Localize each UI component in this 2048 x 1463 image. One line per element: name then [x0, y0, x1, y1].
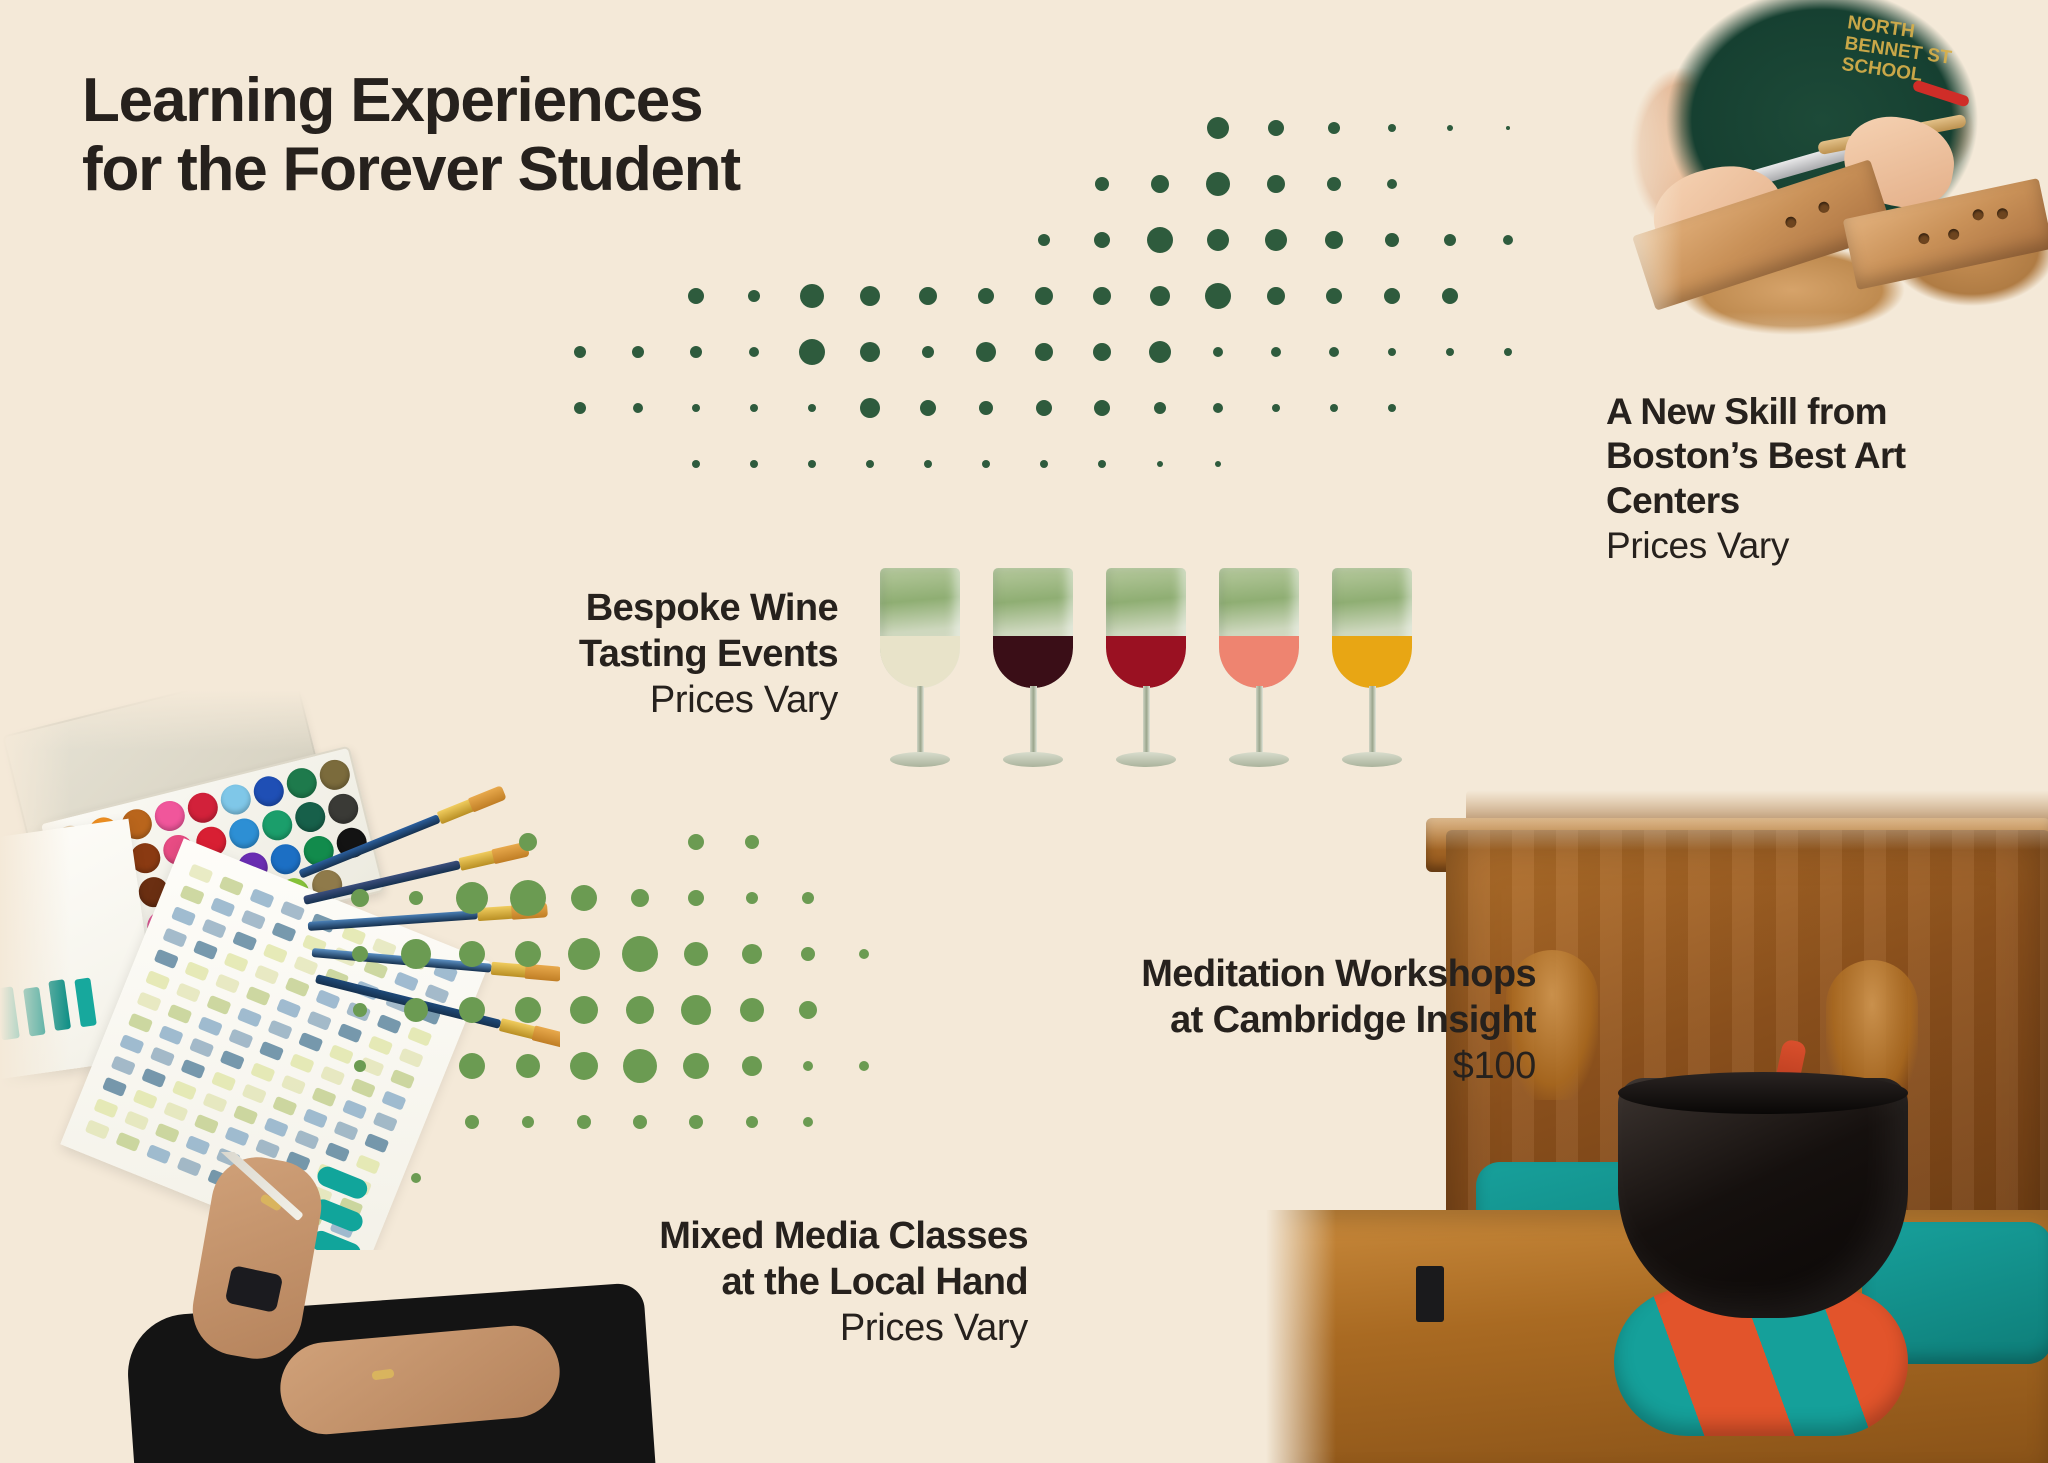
pattern-dot — [859, 1061, 869, 1071]
pattern-dot — [799, 339, 825, 365]
paint-swatch — [407, 1026, 432, 1046]
paint-swatch — [303, 1108, 328, 1128]
glass-foot — [1003, 752, 1063, 767]
glass-foot — [890, 752, 950, 767]
caption-title: Meditation Workshops at Cambridge Insigh… — [880, 952, 1536, 1043]
caption-title: Mixed Media Classes at the Local Hand — [420, 1214, 1028, 1305]
glass-stem — [1256, 686, 1263, 756]
paint-swatch — [171, 906, 196, 926]
small-black-object — [1416, 1266, 1444, 1322]
pattern-dot — [924, 460, 932, 468]
paint-swatch — [102, 1077, 127, 1097]
pattern-dot — [1271, 347, 1281, 357]
pattern-dot — [803, 1117, 813, 1127]
paint-swatch — [333, 1121, 358, 1141]
photo-edge-fade — [1266, 790, 2048, 850]
pattern-dot — [1388, 348, 1396, 356]
pattern-dot — [860, 342, 880, 362]
pattern-dot — [1098, 460, 1106, 468]
paint-swatch — [193, 940, 218, 960]
pattern-dot — [1388, 124, 1396, 132]
pattern-dot — [1447, 125, 1453, 131]
pattern-dot — [692, 404, 700, 412]
paint-swatch — [280, 901, 305, 921]
caption-meditation: Meditation Workshops at Cambridge Insigh… — [880, 952, 1536, 1090]
pattern-dot — [633, 403, 643, 413]
paint-swatch — [219, 876, 244, 896]
paint-swatch — [249, 888, 274, 908]
brush-bristles — [511, 902, 548, 919]
pattern-dot — [859, 949, 869, 959]
paint-pan — [259, 807, 295, 843]
glass-bowl — [880, 568, 960, 688]
paint-swatch — [351, 1078, 376, 1098]
pattern-dot — [1213, 347, 1223, 357]
pattern-dot — [570, 996, 598, 1024]
paint-swatch — [293, 956, 318, 976]
pattern-dot — [1095, 177, 1109, 191]
pattern-dot — [1154, 402, 1166, 414]
pattern-dot — [1446, 348, 1454, 356]
pattern-dot — [749, 347, 759, 357]
pattern-dot — [688, 890, 704, 906]
wine-glass-dark-red-wine — [985, 562, 1081, 782]
pattern-dot — [688, 288, 704, 304]
paint-swatch — [202, 1093, 227, 1113]
pattern-dot — [688, 834, 704, 850]
paint-swatch — [119, 1034, 144, 1054]
paint-swatch — [233, 1105, 258, 1125]
caption-wine: Bespoke Wine Tasting Events Prices Vary — [420, 586, 838, 724]
paint-swatch — [115, 1132, 140, 1152]
caption-title: A New Skill from Boston’s Best Art Cente… — [1606, 390, 2006, 523]
paint-swatch — [111, 1055, 136, 1075]
paint-swatch — [368, 1035, 393, 1055]
paint-swatch — [242, 1084, 267, 1104]
glass-stem — [1143, 686, 1150, 756]
pattern-dot — [1325, 231, 1343, 249]
paint-swatch — [373, 1112, 398, 1132]
paint-swatch — [337, 1023, 362, 1043]
pattern-dot — [570, 1052, 598, 1080]
wine-glass-white-wine — [872, 562, 968, 782]
pattern-dot — [979, 401, 993, 415]
page-title: Learning Experiences for the Forever Stu… — [82, 66, 740, 205]
wine-glasses-photo — [872, 556, 1428, 786]
paint-swatch — [342, 1099, 367, 1119]
paint-swatch — [211, 1071, 236, 1091]
brush-bristles — [491, 841, 529, 864]
pattern-dot — [622, 936, 658, 972]
paint-swatch — [180, 1059, 205, 1079]
pattern-dot — [690, 346, 702, 358]
pattern-dot — [626, 996, 654, 1024]
paint-swatch — [133, 1089, 158, 1109]
pattern-dot — [1093, 343, 1111, 361]
pattern-dot — [1035, 343, 1053, 361]
caption-title: Bespoke Wine Tasting Events — [420, 586, 838, 677]
paint-swatch — [206, 995, 231, 1015]
wine-liquid — [1332, 636, 1412, 688]
pattern-dot — [1157, 461, 1163, 467]
brush-bristles — [525, 964, 560, 982]
pattern-dot — [1213, 403, 1223, 413]
pattern-dot — [982, 460, 990, 468]
pattern-dot — [689, 1115, 703, 1129]
paint-swatch — [74, 978, 97, 1028]
paint-pan — [251, 773, 287, 809]
paint-swatch — [155, 1123, 180, 1143]
paint-swatch — [198, 1016, 223, 1036]
glass-stem — [1030, 686, 1037, 756]
pattern-dot — [1503, 235, 1513, 245]
pattern-dot — [1442, 288, 1458, 304]
paint-swatch — [124, 1110, 149, 1130]
paint-swatch — [390, 1069, 415, 1089]
caption-mixedmedia: Mixed Media Classes at the Local Hand Pr… — [420, 1214, 1028, 1352]
drill-hole — [1917, 232, 1930, 245]
wine-glass-amber-wine — [1324, 562, 1420, 782]
paint-swatch — [232, 931, 257, 951]
pattern-dot — [571, 885, 597, 911]
pattern-dot — [1265, 229, 1287, 251]
pattern-dot — [568, 938, 600, 970]
pattern-dot — [922, 346, 934, 358]
pattern-dot — [574, 346, 586, 358]
pattern-dot — [1326, 288, 1342, 304]
pattern-dot — [1038, 234, 1050, 246]
wine-glass-rose-wine — [1211, 562, 1307, 782]
pattern-dot — [1272, 404, 1280, 412]
pattern-dot — [1327, 177, 1341, 191]
paint-swatch — [141, 1068, 166, 1088]
pattern-dot — [631, 889, 649, 907]
pattern-dot — [976, 342, 996, 362]
pattern-dot — [683, 1053, 709, 1079]
paint-swatch — [167, 1004, 192, 1024]
pattern-dot — [574, 402, 586, 414]
drill-hole — [1784, 215, 1798, 229]
glass-bowl — [1219, 568, 1299, 688]
pattern-dot — [808, 460, 816, 468]
pattern-dot — [745, 835, 759, 849]
pattern-dot — [750, 460, 758, 468]
pattern-dot — [920, 400, 936, 416]
drill-hole — [1996, 207, 2009, 220]
pattern-dot — [866, 460, 874, 468]
paint-pan — [317, 757, 353, 793]
paint-pan — [152, 798, 188, 834]
photo-edge-fade — [1612, 312, 2048, 372]
paint-swatch — [172, 1080, 197, 1100]
paint-swatch — [394, 971, 419, 991]
pattern-dot — [1147, 227, 1173, 253]
glass-foot — [1229, 752, 1289, 767]
pattern-dot — [860, 398, 880, 418]
wine-liquid — [880, 636, 960, 688]
pattern-dot — [801, 947, 815, 961]
pattern-dot — [746, 892, 758, 904]
pattern-dot — [1040, 460, 1048, 468]
paint-swatch — [315, 989, 340, 1009]
paint-swatch — [158, 1025, 183, 1045]
pattern-dot — [1149, 341, 1171, 363]
paint-swatch — [364, 1133, 389, 1153]
pattern-dot — [1094, 400, 1110, 416]
wine-glass-red-wine — [1098, 562, 1194, 782]
pattern-dot — [742, 944, 762, 964]
pattern-dot — [633, 1115, 647, 1129]
pattern-dot — [1388, 404, 1396, 412]
paint-swatch — [311, 1087, 336, 1107]
paint-swatch — [381, 1090, 406, 1110]
paint-swatch — [285, 977, 310, 997]
wine-liquid — [1219, 636, 1299, 688]
paint-swatch — [294, 1130, 319, 1150]
paint-swatch — [128, 1013, 153, 1033]
paint-swatch — [188, 863, 213, 883]
pattern-dot — [750, 404, 758, 412]
pattern-dot — [1330, 404, 1338, 412]
paint-swatch — [220, 1050, 245, 1070]
pattern-dot — [1329, 347, 1339, 357]
brush-ferrule — [477, 906, 514, 921]
paint-swatch — [272, 1096, 297, 1116]
pattern-dot — [1207, 229, 1229, 251]
pattern-dot — [1036, 400, 1052, 416]
caption-woodwork: A New Skill from Boston’s Best Art Cente… — [1606, 390, 2006, 568]
paint-swatch — [263, 943, 288, 963]
glass-foot — [1342, 752, 1402, 767]
apron-logo-text: NORTH BENNET ST SCHOOL — [1840, 13, 1977, 93]
paint-swatch — [93, 1098, 118, 1118]
photo-edge-fade — [0, 690, 70, 1250]
singing-bowl-rim — [1618, 1072, 1908, 1114]
pattern-dot — [692, 460, 700, 468]
paint-pan — [325, 791, 361, 827]
pattern-dot — [1267, 175, 1285, 193]
paint-swatch — [307, 1011, 332, 1031]
paint-swatch — [237, 1007, 262, 1027]
brush-bristles — [468, 785, 507, 812]
paint-swatch — [267, 1020, 292, 1040]
pattern-dot — [1207, 117, 1229, 139]
caption-price: Prices Vary — [1606, 523, 2006, 568]
paint-pan — [185, 790, 221, 826]
pattern-dot — [1093, 287, 1111, 305]
brush-bristles — [532, 1025, 560, 1048]
paint-swatch — [329, 1044, 354, 1064]
pattern-dot — [803, 1061, 813, 1071]
paint-swatch — [320, 1066, 345, 1086]
pattern-dot — [978, 288, 994, 304]
paint-swatch — [241, 910, 266, 930]
paint-swatch — [194, 1114, 219, 1134]
paint-swatch — [189, 1037, 214, 1057]
paint-swatch — [259, 1041, 284, 1061]
pattern-dot — [577, 1115, 591, 1129]
pattern-dot — [1150, 286, 1170, 306]
pattern-dot — [1035, 287, 1053, 305]
paint-swatch — [254, 965, 279, 985]
paint-pan — [292, 799, 328, 835]
paint-swatch — [202, 919, 227, 939]
singing-bowl — [1618, 1078, 1908, 1318]
meditation-altar-photo — [1266, 790, 2048, 1463]
pattern-dot — [919, 287, 937, 305]
brush-ferrule — [499, 1018, 537, 1039]
brush-ferrule — [491, 962, 528, 978]
pattern-dot — [1384, 288, 1400, 304]
paint-swatch — [180, 885, 205, 905]
paint-swatch — [162, 927, 187, 947]
drill-hole — [1817, 200, 1831, 214]
pattern-dot — [684, 942, 708, 966]
glass-stem — [1369, 686, 1376, 756]
woodworking-photo: NORTH BENNET ST SCHOOL — [1612, 0, 2048, 372]
paint-swatch — [154, 949, 179, 969]
pattern-dot — [1206, 172, 1230, 196]
paint-swatch — [271, 922, 296, 942]
paint-swatch — [145, 970, 170, 990]
paint-swatch — [281, 1075, 306, 1095]
paint-swatch — [245, 986, 270, 1006]
glass-bowl — [993, 568, 1073, 688]
pattern-dot — [1328, 122, 1340, 134]
pattern-dot — [1504, 348, 1512, 356]
glass-bowl — [1106, 568, 1186, 688]
caption-price: Prices Vary — [420, 1305, 1028, 1351]
paint-swatch — [210, 897, 235, 917]
paint-swatch — [136, 991, 161, 1011]
paint-swatch — [85, 1119, 110, 1139]
pattern-dot — [860, 286, 880, 306]
paint-swatch — [163, 1101, 188, 1121]
glass-foot — [1116, 752, 1176, 767]
pattern-dot — [1387, 179, 1397, 189]
caption-price: $100 — [880, 1043, 1536, 1089]
poster-canvas: NORTH BENNET ST SCHOOL — [0, 0, 2048, 1463]
pattern-dot — [740, 998, 764, 1022]
paint-pan — [226, 815, 262, 851]
pattern-dot — [1267, 287, 1285, 305]
paint-swatch — [184, 961, 209, 981]
pattern-dot — [808, 404, 816, 412]
paint-swatch — [223, 952, 248, 972]
pattern-dot — [681, 995, 711, 1025]
wine-liquid — [1106, 636, 1186, 688]
glass-stem — [917, 686, 924, 756]
pattern-dot — [800, 284, 824, 308]
paint-swatch — [359, 1057, 384, 1077]
wine-liquid — [993, 636, 1073, 688]
pattern-dot — [799, 1001, 817, 1019]
paint-swatch — [376, 1014, 401, 1034]
pattern-dot — [742, 1056, 762, 1076]
pattern-dot — [802, 892, 814, 904]
pattern-dot — [1444, 234, 1456, 246]
paint-swatch — [398, 1048, 423, 1068]
pattern-dot — [1268, 120, 1284, 136]
paint-swatch — [250, 1062, 275, 1082]
paint-swatch — [176, 982, 201, 1002]
pattern-dot — [632, 346, 644, 358]
pattern-dot — [1506, 126, 1510, 130]
paint-swatch — [215, 974, 240, 994]
pattern-dot — [623, 1049, 657, 1083]
caption-price: Prices Vary — [420, 677, 838, 723]
paint-swatch — [224, 1126, 249, 1146]
drill-hole — [1972, 208, 1985, 221]
pattern-dot — [1385, 233, 1399, 247]
paint-swatch — [264, 1117, 289, 1137]
pattern-dot — [1094, 232, 1110, 248]
pattern-dot — [1151, 175, 1169, 193]
paint-swatch — [228, 1029, 253, 1049]
pattern-dot — [746, 1116, 758, 1128]
glass-bowl — [1332, 568, 1412, 688]
pattern-dot — [1205, 283, 1231, 309]
paint-swatch — [298, 1032, 323, 1052]
pattern-dot — [748, 290, 760, 302]
pattern-dot — [1215, 461, 1221, 467]
paint-swatch — [276, 998, 301, 1018]
paint-swatch — [289, 1053, 314, 1073]
brush-ferrule — [458, 850, 496, 871]
paint-swatch — [346, 1002, 371, 1022]
paint-pan — [218, 781, 254, 817]
photo-edge-fade — [1266, 790, 1336, 1463]
paint-pan — [284, 765, 320, 801]
paint-swatch — [150, 1046, 175, 1066]
drill-hole — [1947, 228, 1960, 241]
